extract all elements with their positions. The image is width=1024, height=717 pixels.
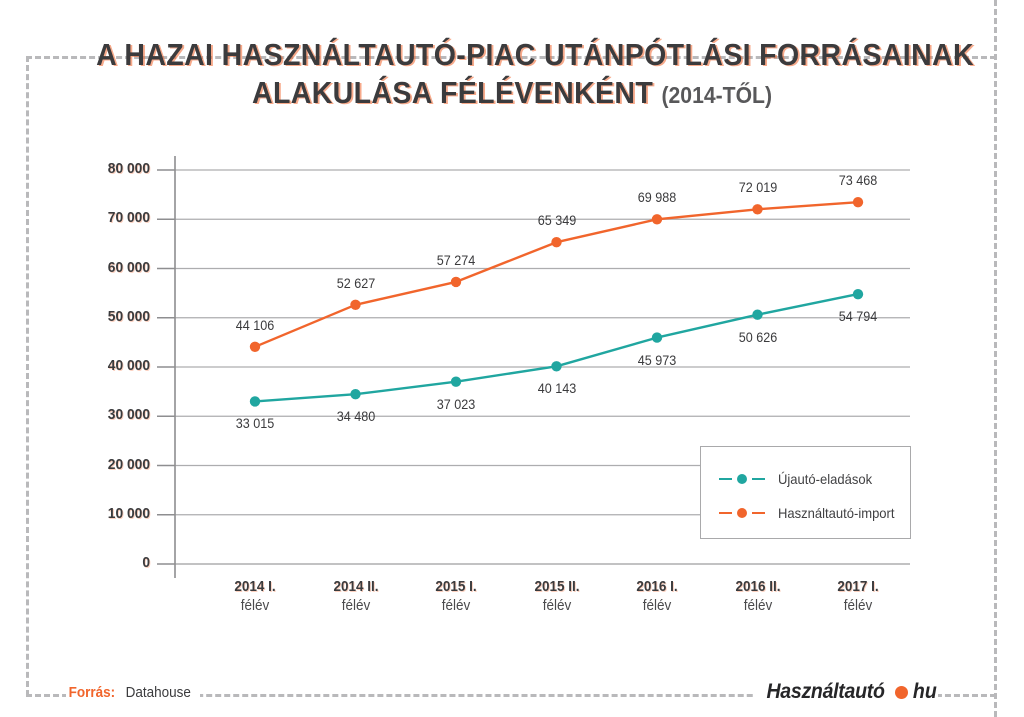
series-0-point-3 [551,361,561,371]
series-1-point-4 [652,214,662,224]
y-tick-label: 10 000 [49,505,150,522]
y-tick-label: 20 000 [49,456,150,473]
x-category-sub: félév [503,597,611,614]
y-tick-label: 70 000 [49,209,150,226]
y-tick-label: 50 000 [49,308,150,325]
x-category-main: 2016 II. [704,578,812,595]
data-label-s0-p2: 37 023 [411,396,501,412]
y-tick-label: 40 000 [49,357,150,374]
legend-marker-teal-icon [719,473,765,485]
series-1-point-3 [551,237,561,247]
x-category-main: 2014 II. [302,578,410,595]
series-0-point-1 [350,389,360,399]
x-category-sub: félév [704,597,812,614]
x-category-sub: félév [302,597,410,614]
x-category-main: 2015 II. [503,578,611,595]
footer-source: Forrás: Datahouse [66,684,200,701]
brand-logo[interactable]: Használtautó hu [754,680,938,704]
series-0-point-4 [652,332,662,342]
footer-source-value: Datahouse [125,684,190,701]
series-1-point-1 [350,300,360,310]
x-category-sub: félév [804,597,912,614]
series-1-point-0 [250,342,260,352]
brand-dot-icon [895,686,908,699]
chart-plot-area: 010 00020 00030 00040 00050 00060 00070 … [0,0,1024,717]
brand-logo-tld: hu [913,680,937,704]
brand-logo-word: Használtautó [767,680,885,704]
series-1-point-5 [752,204,762,214]
data-label-s0-p4: 45 973 [612,352,702,368]
series-0-point-6 [853,289,863,299]
x-category-main: 2016 I. [603,578,711,595]
legend-item-ujauto-eladasok[interactable]: Újautó-eladások [719,469,879,489]
x-category-sub: félév [201,597,309,614]
x-category-main: 2017 I. [804,578,912,595]
x-category-main: 2015 I. [402,578,510,595]
x-category-sub: félév [603,597,711,614]
series-0-point-0 [250,396,260,406]
chart-legend: Újautó-eladások Használtautó-import [700,446,911,539]
data-label-s1-p2: 57 274 [411,252,501,268]
x-category-main: 2014 I. [201,578,309,595]
footer-source-label: Forrás: [69,684,116,701]
legend-label-0: Újautó-eladások [778,471,872,487]
legend-label-1: Használtautó-import [778,505,895,521]
legend-marker-orange-icon [719,507,765,519]
legend-item-hasznaltauto-import[interactable]: Használtautó-import [719,503,903,523]
series-0-point-5 [752,309,762,319]
data-label-s0-p0: 33 015 [210,415,300,431]
data-label-s1-p5: 72 019 [713,179,803,195]
data-label-s1-p0: 44 106 [210,317,300,333]
series-1-point-6 [853,197,863,207]
data-label-s1-p4: 69 988 [612,189,702,205]
data-label-s1-p6: 73 468 [813,172,903,188]
data-label-s0-p3: 40 143 [512,380,602,396]
y-tick-label: 0 [49,554,150,571]
data-label-s0-p6: 54 794 [813,308,903,324]
y-tick-label: 80 000 [49,160,150,177]
infographic-poster: A HAZAI HASZNÁLTAUTÓ-PIAC UTÁNPÓTLÁSI FO… [0,0,1024,717]
series-1-point-2 [451,277,461,287]
series-0-point-2 [451,376,461,386]
data-label-s1-p1: 52 627 [311,275,401,291]
x-category-sub: félév [402,597,510,614]
data-label-s0-p5: 50 626 [713,329,803,345]
y-tick-label: 60 000 [49,259,150,276]
data-label-s0-p1: 34 480 [311,408,401,424]
y-tick-label: 30 000 [49,406,150,423]
x-category-label-6: 2017 I.félév [798,578,918,614]
data-label-s1-p3: 65 349 [512,212,602,228]
